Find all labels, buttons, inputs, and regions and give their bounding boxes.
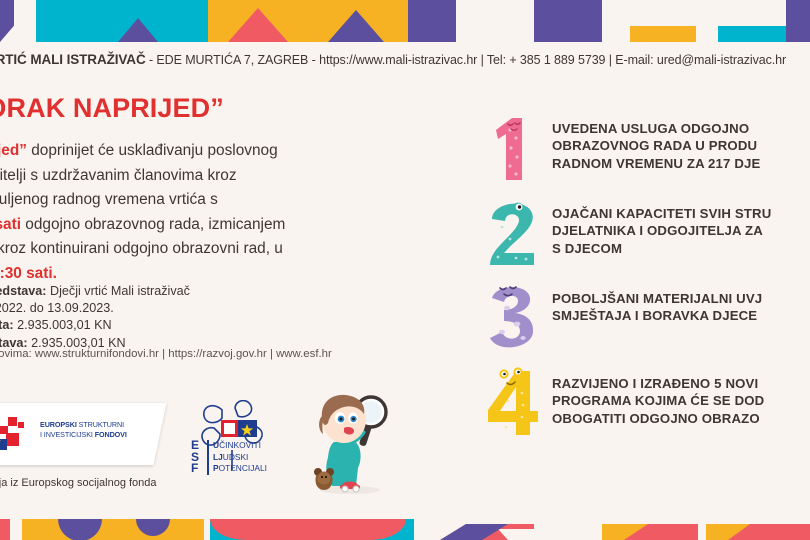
poster-page: JI VRTIĆ MALI ISTRAŽIVAČ - EDE MURTIĆA 7… (0, 0, 810, 540)
plain-text: doprinijet će usklađivanju poslovnog (31, 142, 277, 159)
result-text-line: RAZVIJENO I IZRAĐENO 5 NOVI (552, 375, 810, 392)
result-number-4-icon (482, 365, 544, 441)
result-item: UVEDENA USLUGA ODGOJNOOBRAZOVNOG RADA U … (482, 110, 810, 195)
result-number-1-icon (482, 110, 544, 186)
esi-text-rest-1: STRUKTURNI (77, 420, 124, 429)
esf-letters: ESF (191, 440, 199, 475)
esf-word: POTENCIJALI (213, 463, 267, 475)
plain-text: upina, a kroz kontinuirani odgojno obraz… (0, 240, 283, 257)
result-item: RAZVIJENO I IZRAĐENO 5 NOVIPROGRAMA KOJI… (482, 365, 810, 450)
description-line: upina, a kroz kontinuirani odgojno obraz… (0, 237, 458, 262)
teddy-bear-icon (314, 468, 334, 490)
result-text-line: SMJEŠTAJA I BORAVKA DJECE (552, 307, 810, 324)
description-line: 0 na 12 sati odgojno obrazovnog rada, iz… (0, 213, 458, 238)
esf-word: LJUDSKI (213, 452, 267, 464)
finance-row: vratnih sredstava: Dječji vrtić Mali ist… (0, 283, 458, 300)
highlight-text: 0 na 12 sati (0, 216, 25, 233)
finance-value: 13.01.2022. do 13.09.2023. (0, 301, 114, 315)
finance-label: vratnih sredstava: (0, 284, 47, 298)
esf-letter: F (191, 463, 199, 475)
result-text-line: DJELATNIKA I ODGOJITELJA ZA (552, 222, 810, 239)
result-text-line: OBOGATITI ODGOJNO OBRAZO (552, 410, 810, 427)
esi-funds-icon (0, 415, 36, 453)
esi-text-bold-2: FONDOVI (95, 430, 127, 439)
eu-funds-links: a o EU fondovima: www.strukturnifondovi.… (0, 348, 332, 360)
contact-details: - EDE MURTIĆA 7, ZAGREB - https://www.ma… (146, 53, 786, 67)
esi-funds-logo-card: EUROPSKI STRUKTURNI I INVESTICIJSKI FOND… (0, 403, 167, 465)
finance-label: ost projekta: (0, 318, 14, 332)
description-line: ak naprijed” doprinijet će usklađivanju … (0, 139, 458, 164)
result-text-line: RADNOM VREMENU ZA 217 DJE (552, 155, 810, 172)
result-text-line: OBRAZOVNOG RADA U PRODU (552, 137, 810, 154)
bottom-decorative-banner (0, 495, 810, 540)
finance-details: vratnih sredstava: Dječji vrtić Mali ist… (0, 283, 458, 352)
page-title: T “KORAK NAPRIJED” (0, 93, 224, 124)
highlight-text: 30 do 18:30 sati. (0, 265, 57, 282)
result-text: RAZVIJENO I IZRAĐENO 5 NOVIPROGRAMA KOJI… (552, 375, 810, 427)
result-text: POBOLJŠANI MATERIJALNI UVJSMJEŠTAJA I BO… (552, 290, 810, 325)
esi-funds-logo-text: EUROPSKI STRUKTURNI I INVESTICIJSKI FOND… (40, 420, 127, 439)
result-item: POBOLJŠANI MATERIJALNI UVJSMJEŠTAJA I BO… (482, 280, 810, 365)
finance-row: ost projekta: 2.935.003,01 KN (0, 317, 458, 334)
esf-words: UČINKOVITILJUDSKIPOTENCIJALI (207, 440, 267, 475)
esf-word-initial: LJ (213, 452, 223, 462)
esf-word: UČINKOVITI (213, 440, 267, 452)
esf-word-rest: UDSKI (223, 452, 249, 462)
plain-text: života obitelji s uzdržavanim članovima … (0, 167, 237, 184)
result-text-line: POBOLJŠANI MATERIJALNI UVJ (552, 290, 810, 307)
result-item: OJAČANI KAPACITETI SVIH STRUDJELATNIKA I… (482, 195, 810, 280)
description-line: života obitelji s uzdržavanim članovima … (0, 164, 458, 189)
esi-text-bold-1: EUROPSKI (40, 420, 77, 429)
finance-row: ca: 13.01.2022. do 13.09.2023. (0, 300, 458, 317)
result-text-line: PROGRAMA KOJIMA ĆE SE DOD (552, 392, 810, 409)
highlight-text: ak naprijed” (0, 142, 31, 159)
plain-text: uge produljenog radnog vremena vrtića s (0, 191, 218, 208)
esf-word-rest: ČINKOVITI (219, 440, 261, 450)
result-number-2-icon (482, 195, 544, 271)
esi-text-rest-2: I INVESTICIJSKI (40, 430, 95, 439)
result-number-3-icon (482, 280, 544, 356)
result-text: OJAČANI KAPACITETI SVIH STRUDJELATNIKA I… (552, 205, 810, 257)
finance-value: Dječji vrtić Mali istraživač (47, 284, 190, 298)
project-description: ak naprijed” doprinijet će usklađivanju … (0, 139, 458, 287)
result-text-line: UVEDENA USLUGA ODGOJNO (552, 120, 810, 137)
plain-text: odgojno obrazovnog rada, izmicanjem (25, 216, 285, 233)
organisation-name: JI VRTIĆ MALI ISTRAŽIVAČ (0, 52, 146, 67)
description-line: uge produljenog radnog vremena vrtića s (0, 188, 458, 213)
results-list: UVEDENA USLUGA ODGOJNOOBRAZOVNOG RADA U … (482, 110, 810, 450)
esf-word-rest: OTENCIJALI (219, 463, 267, 473)
result-text-line: S DJECOM (552, 240, 810, 257)
result-text: UVEDENA USLUGA ODGOJNOOBRAZOVNOG RADA U … (552, 120, 810, 172)
contact-line: JI VRTIĆ MALI ISTRAŽIVAČ - EDE MURTIĆA 7… (0, 52, 810, 67)
top-decorative-banner (0, 0, 810, 42)
eu-cofinancing-note: ropska unija iz Europskog socijalnog fon… (0, 477, 157, 489)
top-banner-shapes (0, 0, 810, 42)
finance-value: 2.935.003,01 KN (14, 318, 112, 332)
bottom-banner-shapes (0, 495, 810, 540)
child-mascot-illustration (292, 386, 400, 496)
result-text-line: OJAČANI KAPACITETI SVIH STRU (552, 205, 810, 222)
